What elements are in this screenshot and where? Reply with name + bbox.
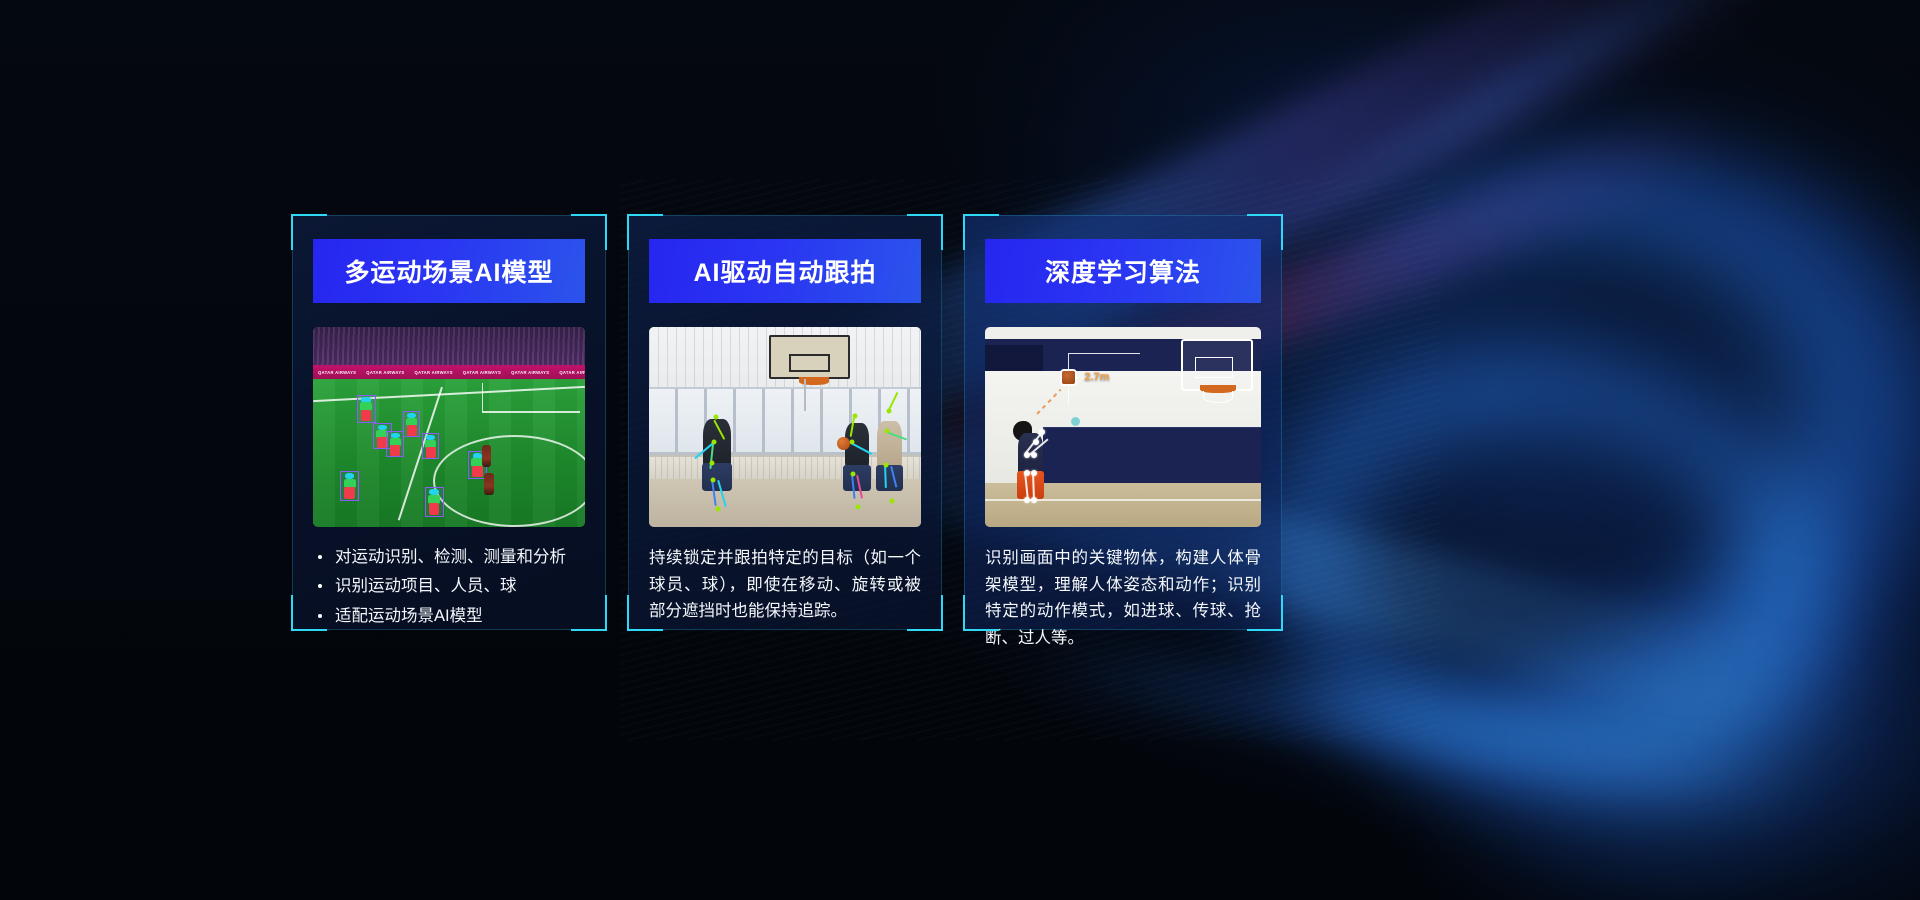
card-header-banner: AI驱动自动跟拍 bbox=[649, 239, 921, 303]
card-edge-left bbox=[292, 249, 293, 596]
feature-card-row: 多运动场景AI模型 QATAR AIRWAYS QATAR AIRWAYS QA… bbox=[292, 215, 1282, 630]
soccer-pitch-image: QATAR AIRWAYS QATAR AIRWAYS QATAR AIRWAY… bbox=[313, 327, 585, 527]
court-image: 2.7m bbox=[985, 327, 1261, 527]
hoop-pole bbox=[804, 379, 806, 411]
pitch-line bbox=[482, 383, 484, 411]
marker-dot bbox=[1071, 417, 1080, 426]
backboard bbox=[769, 335, 851, 379]
basketball bbox=[837, 437, 850, 450]
basketball-pose-thumbnail[interactable] bbox=[649, 327, 921, 527]
card-description: 识别画面中的关键物体，构建人体骨架模型，理解人体姿态和动作；识别特定的动作模式，… bbox=[985, 545, 1261, 652]
feature-card-multi-sport-ai-model[interactable]: 多运动场景AI模型 QATAR AIRWAYS QATAR AIRWAYS QA… bbox=[292, 215, 606, 630]
feature-card-ai-auto-tracking[interactable]: AI驱动自动跟拍 bbox=[628, 215, 942, 630]
shot-tracking-thumbnail[interactable]: 2.7m bbox=[985, 327, 1261, 527]
soccer-detection-thumbnail[interactable]: QATAR AIRWAYS QATAR AIRWAYS QATAR AIRWAY… bbox=[313, 327, 585, 527]
pose-skeleton bbox=[867, 393, 916, 521]
board-text: QATAR AIRWAYS bbox=[554, 370, 585, 375]
opponent-player bbox=[484, 473, 494, 495]
card-edge-top bbox=[662, 215, 908, 216]
center-circle bbox=[433, 435, 585, 527]
detection-box bbox=[425, 487, 444, 517]
card-description: 持续锁定并跟拍特定的目标（如一个球员、球），即使在移动、旋转或被部分遮挡时也能保… bbox=[649, 545, 921, 625]
list-item: 对运动识别、检测、测量和分析 bbox=[313, 545, 585, 569]
card-title: 多运动场景AI模型 bbox=[344, 253, 553, 289]
card-edge-right bbox=[941, 249, 942, 596]
detection-box bbox=[357, 395, 376, 423]
board-text: QATAR AIRWAYS bbox=[458, 370, 506, 375]
card-edge-top bbox=[326, 215, 572, 216]
card-body: 持续锁定并跟拍特定的目标（如一个球员、球），即使在移动、旋转或被部分遮挡时也能保… bbox=[649, 545, 921, 625]
feature-bullet-list: 对运动识别、检测、测量和分析 识别运动项目、人员、球 适配运动场景AI模型 bbox=[313, 545, 585, 628]
list-item: 适配运动场景AI模型 bbox=[313, 604, 585, 628]
card-edge-top bbox=[998, 215, 1248, 216]
board-text: QATAR AIRWAYS bbox=[313, 370, 361, 375]
detection-box bbox=[403, 411, 421, 437]
gym-image bbox=[649, 327, 921, 527]
board-text: QATAR AIRWAYS bbox=[410, 370, 458, 375]
card-body: 识别画面中的关键物体，构建人体骨架模型，理解人体姿态和动作；识别特定的动作模式，… bbox=[985, 545, 1261, 652]
card-header-banner: 深度学习算法 bbox=[985, 239, 1261, 303]
advertising-board: QATAR AIRWAYS QATAR AIRWAYS QATAR AIRWAY… bbox=[313, 365, 585, 380]
card-edge-left bbox=[964, 249, 965, 596]
card-edge-right bbox=[605, 249, 606, 596]
slide-stage: 多运动场景AI模型 QATAR AIRWAYS QATAR AIRWAYS QA… bbox=[0, 0, 1920, 900]
court-wall-padding bbox=[1043, 427, 1261, 487]
court-wall-navy-left bbox=[985, 345, 1043, 371]
card-edge-bottom bbox=[326, 629, 572, 630]
list-item: 识别运动项目、人员、球 bbox=[313, 574, 585, 598]
card-title: AI驱动自动跟拍 bbox=[693, 253, 876, 289]
distance-label: 2.7m bbox=[1084, 371, 1109, 383]
feature-card-deep-learning-algorithm[interactable]: 深度学习算法 2.7m bbox=[964, 215, 1282, 630]
board-text: QATAR AIRWAYS bbox=[361, 370, 409, 375]
detection-box bbox=[422, 433, 440, 459]
tracked-ball-marker bbox=[1060, 369, 1077, 386]
card-edge-bottom bbox=[662, 629, 908, 630]
card-title: 深度学习算法 bbox=[1045, 253, 1201, 289]
pose-skeleton bbox=[1007, 411, 1068, 515]
detection-box bbox=[386, 431, 404, 457]
card-body: 对运动识别、检测、测量和分析 识别运动项目、人员、球 适配运动场景AI模型 bbox=[313, 545, 585, 628]
card-header-banner: 多运动场景AI模型 bbox=[313, 239, 585, 303]
board-text: QATAR AIRWAYS bbox=[506, 370, 554, 375]
backboard bbox=[1181, 339, 1253, 391]
card-edge-left bbox=[628, 249, 629, 596]
opponent-player bbox=[482, 445, 492, 467]
card-edge-right bbox=[1281, 249, 1282, 596]
detection-box bbox=[340, 471, 359, 501]
pose-skeleton bbox=[698, 407, 747, 523]
pitch-line bbox=[482, 411, 580, 413]
